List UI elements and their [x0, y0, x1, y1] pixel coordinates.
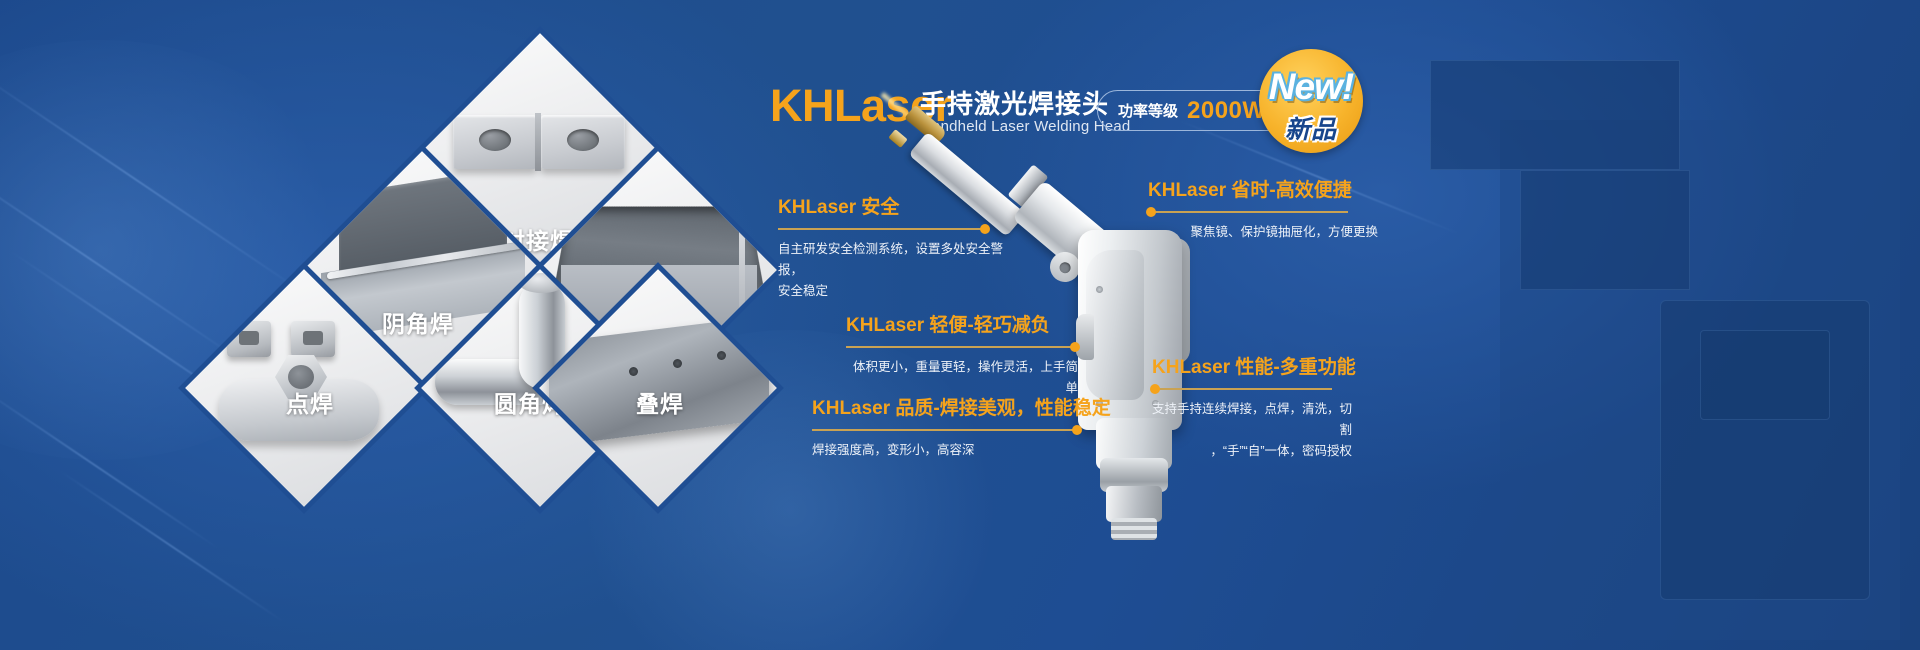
feature-title-3: KHLaser 性能-多重功能	[1152, 352, 1332, 379]
feature-body-0: 自主研发安全检测系统，设置多处安全警报， 安全稳定	[778, 239, 1008, 303]
feature-rule	[812, 429, 1080, 431]
promo-banner: 对接焊 阴角焊 阳角焊	[0, 0, 1920, 650]
new-badge-cn-label: 新品	[1250, 110, 1372, 146]
feature-rule	[1152, 388, 1332, 390]
rule-dot	[1072, 425, 1082, 435]
rule-dot	[1146, 207, 1156, 217]
feature-body-4: 焊接强度高，变形小，高容深	[812, 440, 1080, 461]
feature-callout-lightweight: KHLaser 轻便-轻巧减负 体积更小，重量更轻，操作灵活，上手简单	[846, 310, 1078, 399]
weld-type-label-3: 点焊	[286, 385, 334, 419]
machine-silhouette	[1520, 170, 1690, 290]
new-badge-en-label: New!	[1250, 66, 1372, 108]
feature-callout-safety: KHLaser 安全 自主研发安全检测系统，设置多处安全警报， 安全稳定	[778, 192, 988, 302]
gun-handle	[1086, 250, 1144, 400]
gun-nut	[1106, 486, 1162, 522]
feature-body-3: 支持手持连续焊接，点焊，清洗，切割 ，“手”“自”一体，密码授权	[1152, 399, 1352, 463]
feature-callout-performance: KHLaser 性能-多重功能 支持手持连续焊接，点焊，清洗，切割 ，“手”“自…	[1152, 352, 1332, 462]
feature-rule	[1148, 211, 1348, 213]
feature-callout-efficiency: KHLaser 省时-高效便捷 聚焦镜、保护镜抽屉化，方便更换	[1148, 175, 1348, 243]
rule-dot	[1070, 342, 1080, 352]
new-product-badge: New! 新品	[1250, 40, 1372, 158]
feature-title-1: KHLaser 省时-高效便捷	[1148, 175, 1348, 202]
feature-body-1: 聚焦镜、保护镜抽屉化，方便更换	[1148, 222, 1378, 243]
feature-rule	[846, 346, 1078, 348]
feature-callout-quality: KHLaser 品质-焊接美观，性能稳定 焊接强度高，变形小，高容深	[812, 393, 1080, 461]
feature-title-0: KHLaser 安全	[778, 192, 988, 219]
feature-rule	[778, 228, 988, 230]
weld-type-label-1: 阴角焊	[382, 305, 454, 339]
machine-panel	[1700, 330, 1830, 420]
weld-type-label-5: 叠焊	[636, 385, 684, 419]
gun-screw	[1096, 286, 1103, 293]
weld-type-gallery: 对接焊 阴角焊 阳角焊	[150, 40, 770, 610]
gun-threaded-end	[1111, 518, 1157, 540]
feature-title-2: KHLaser 轻便-轻巧减负	[846, 310, 1078, 337]
rule-dot	[1150, 384, 1160, 394]
feature-title-4: KHLaser 品质-焊接美观，性能稳定	[812, 393, 1080, 420]
rule-dot	[980, 224, 990, 234]
gun-trigger	[1076, 314, 1094, 360]
